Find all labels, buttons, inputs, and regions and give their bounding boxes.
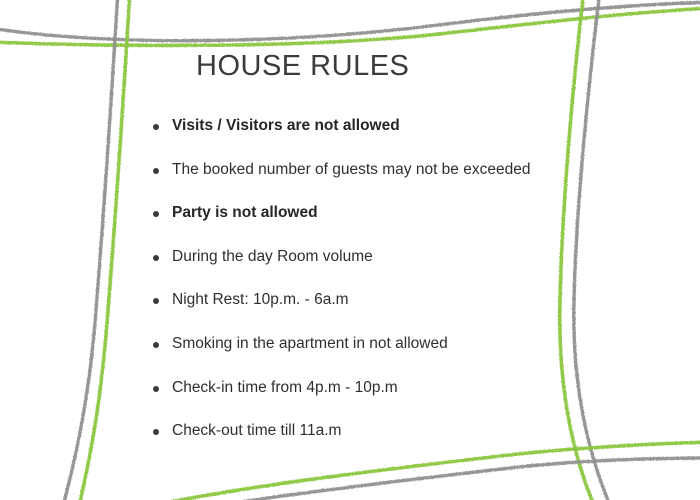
page-title: HOUSE RULES	[196, 50, 409, 83]
bullet-icon	[153, 124, 159, 130]
rule-text: Smoking in the apartment in not allowed	[172, 336, 448, 352]
list-item: Party is not allowed	[150, 205, 670, 249]
bullet-icon	[153, 211, 159, 217]
rule-text: Check-in time from 4p.m - 10p.m	[172, 380, 398, 396]
list-item: During the day Room volume	[150, 249, 670, 293]
house-rules-sign: HOUSE RULES Visits / Visitors are not al…	[0, 0, 700, 500]
bullet-icon	[153, 255, 159, 261]
bullet-icon	[153, 168, 159, 174]
list-item: Smoking in the apartment in not allowed	[150, 336, 670, 380]
list-item: Visits / Visitors are not allowed	[150, 118, 670, 162]
rule-text: Visits / Visitors are not allowed	[172, 118, 400, 134]
rule-text: Check-out time till 11a.m	[172, 423, 341, 439]
list-item: Night Rest: 10p.m. - 6a.m	[150, 292, 670, 336]
bullet-icon	[153, 298, 159, 304]
rules-list: Visits / Visitors are not allowed The bo…	[150, 118, 670, 467]
sign-content: HOUSE RULES Visits / Visitors are not al…	[0, 0, 700, 500]
list-item: Check-out time till 11a.m	[150, 423, 670, 467]
list-item: The booked number of guests may not be e…	[150, 162, 670, 206]
rule-text: Night Rest: 10p.m. - 6a.m	[172, 292, 349, 308]
rule-text: The booked number of guests may not be e…	[172, 162, 530, 178]
rule-text: During the day Room volume	[172, 249, 373, 265]
bullet-icon	[153, 342, 159, 348]
bullet-icon	[153, 429, 159, 435]
rule-text: Party is not allowed	[172, 205, 318, 221]
bullet-icon	[153, 386, 159, 392]
list-item: Check-in time from 4p.m - 10p.m	[150, 380, 670, 424]
